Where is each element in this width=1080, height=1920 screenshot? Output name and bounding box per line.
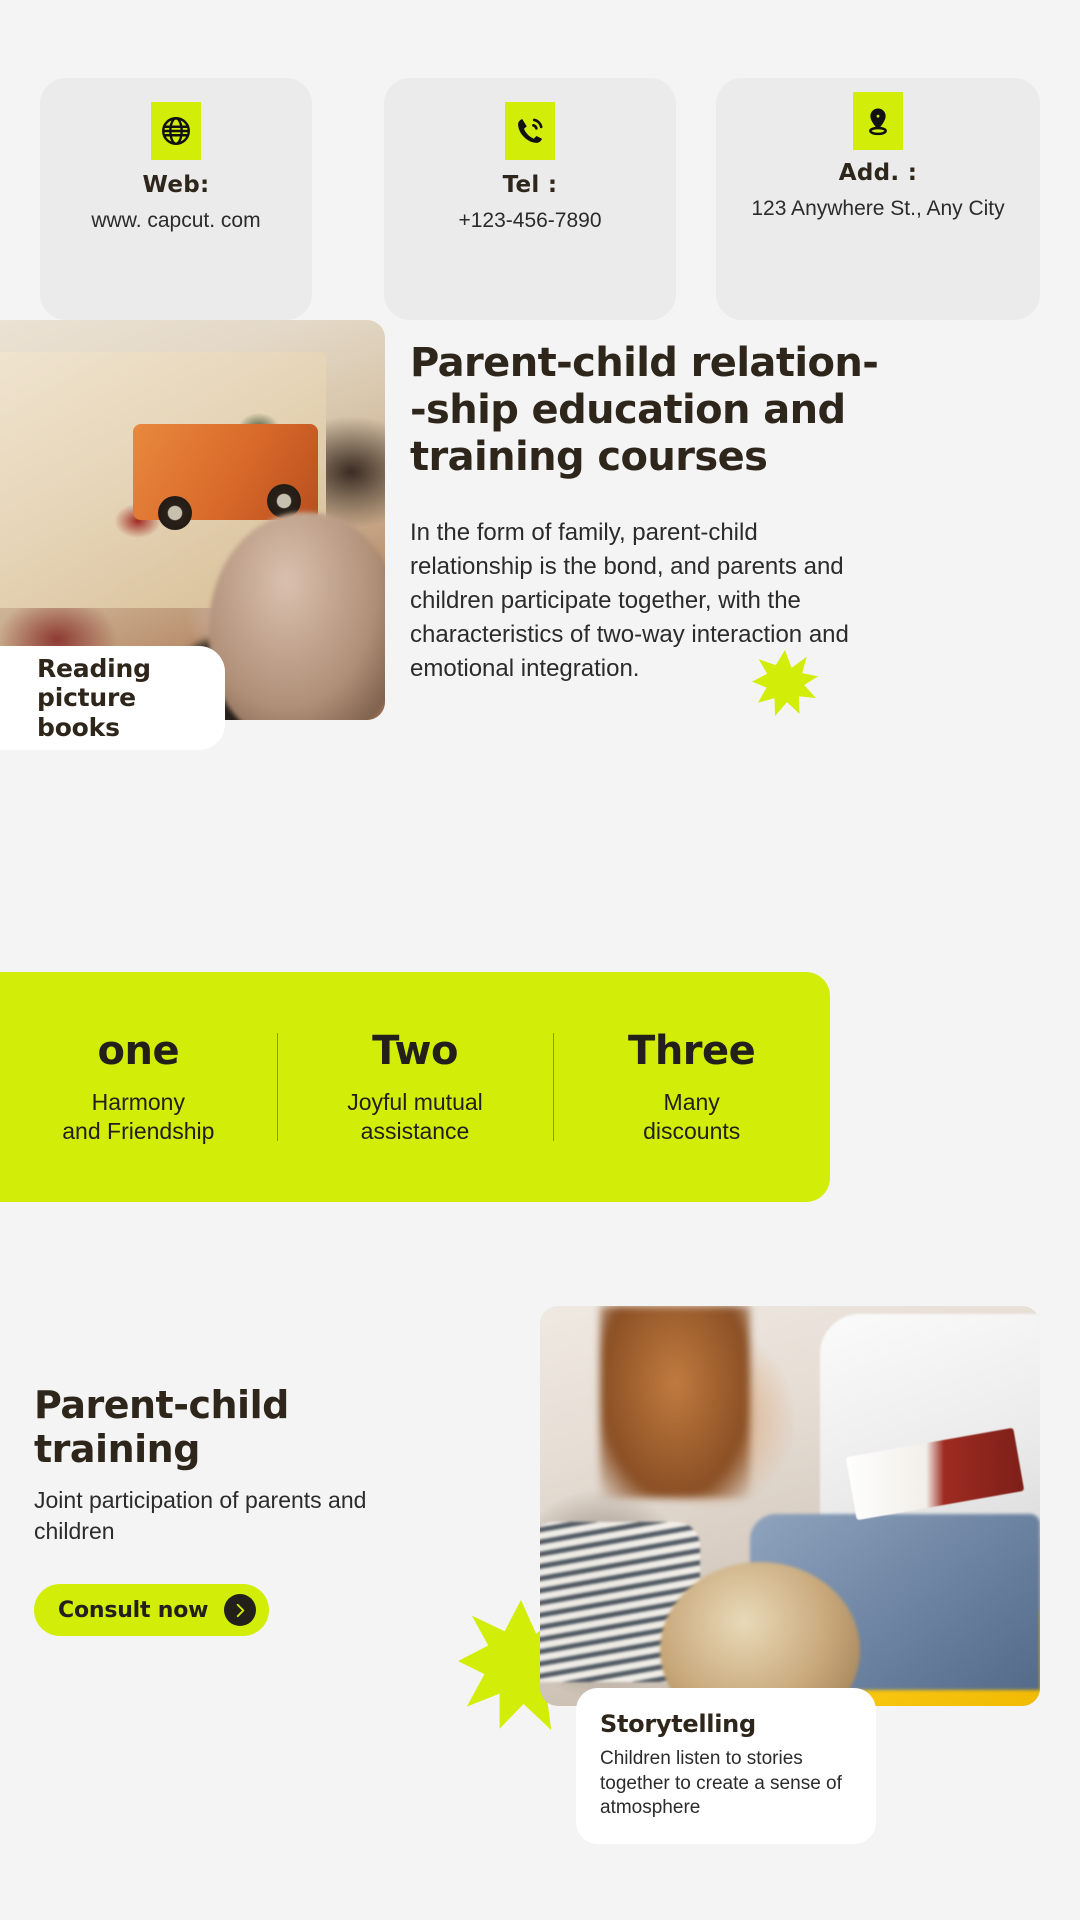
globe-icon: [151, 102, 201, 160]
feature-number-one: one: [0, 1028, 277, 1074]
hero-caption-line-1: Reading: [37, 654, 225, 684]
contact-value-tel: +123-456-7890: [458, 209, 601, 233]
poster-page: Web: www. capcut. com Tel : +123-456-789…: [0, 0, 1080, 1920]
feature-item-one: one Harmony and Friendship: [0, 1028, 277, 1147]
contact-value-address: 123 Anywhere St., Any City: [751, 197, 1004, 221]
features-bar: one Harmony and Friendship Two Joyful mu…: [0, 972, 830, 1202]
bottom-subtitle: Joint participation of parents and child…: [34, 1485, 434, 1546]
feature-description-two: Joyful mutual assistance: [277, 1088, 554, 1147]
contact-label-tel: Tel :: [503, 172, 558, 198]
bottom-title-line-1: Parent-child: [34, 1383, 289, 1427]
storytelling-title: Storytelling: [600, 1710, 852, 1738]
phone-icon: [505, 102, 555, 160]
bottom-photo-storytelling: [540, 1306, 1040, 1706]
feature-description-one: Harmony and Friendship: [0, 1088, 277, 1147]
storytelling-description: Children listen to stories together to c…: [600, 1747, 852, 1821]
contact-card-tel[interactable]: Tel : +123-456-7890: [384, 78, 676, 320]
feature-number-two: Two: [277, 1028, 554, 1074]
hero-photo-caption-card: Reading picture books: [0, 646, 225, 750]
feature-number-three: Three: [553, 1028, 830, 1074]
contact-card-address[interactable]: Add. : 123 Anywhere St., Any City: [716, 78, 1040, 320]
photo-woman-hair: [600, 1306, 750, 1498]
hero-caption-line-2: picture books: [37, 683, 225, 742]
feature-item-three: Three Many discounts: [553, 1028, 830, 1147]
feature-item-two: Two Joyful mutual assistance: [277, 1028, 554, 1147]
feature-description-three: Many discounts: [553, 1088, 830, 1147]
consult-now-label: Consult now: [58, 1598, 208, 1623]
contact-value-web: www. capcut. com: [91, 209, 260, 233]
hero-title-line-2: -ship education and: [410, 387, 846, 433]
hero-text-block: Parent-child relation- -ship education a…: [410, 340, 1040, 686]
contact-cards-row: Web: www. capcut. com Tel : +123-456-789…: [0, 78, 1080, 320]
bottom-title: Parent-child training: [34, 1383, 434, 1471]
hero-title: Parent-child relation- -ship education a…: [410, 340, 1040, 482]
consult-now-button[interactable]: Consult now: [34, 1584, 269, 1636]
bottom-text-block: Parent-child training Joint participatio…: [34, 1383, 434, 1546]
storytelling-caption-card: Storytelling Children listen to stories …: [576, 1688, 876, 1844]
bottom-title-line-2: training: [34, 1427, 200, 1471]
contact-label-web: Web:: [142, 172, 209, 198]
contact-label-address: Add. :: [839, 160, 917, 186]
hero-title-line-1: Parent-child relation-: [410, 340, 878, 386]
arrow-right-circle-icon: [224, 1594, 256, 1626]
location-pin-icon: [853, 92, 903, 150]
hero-title-line-3: training courses: [410, 434, 767, 480]
contact-card-web[interactable]: Web: www. capcut. com: [40, 78, 312, 320]
photo-truck-wheel-front: [158, 496, 192, 530]
